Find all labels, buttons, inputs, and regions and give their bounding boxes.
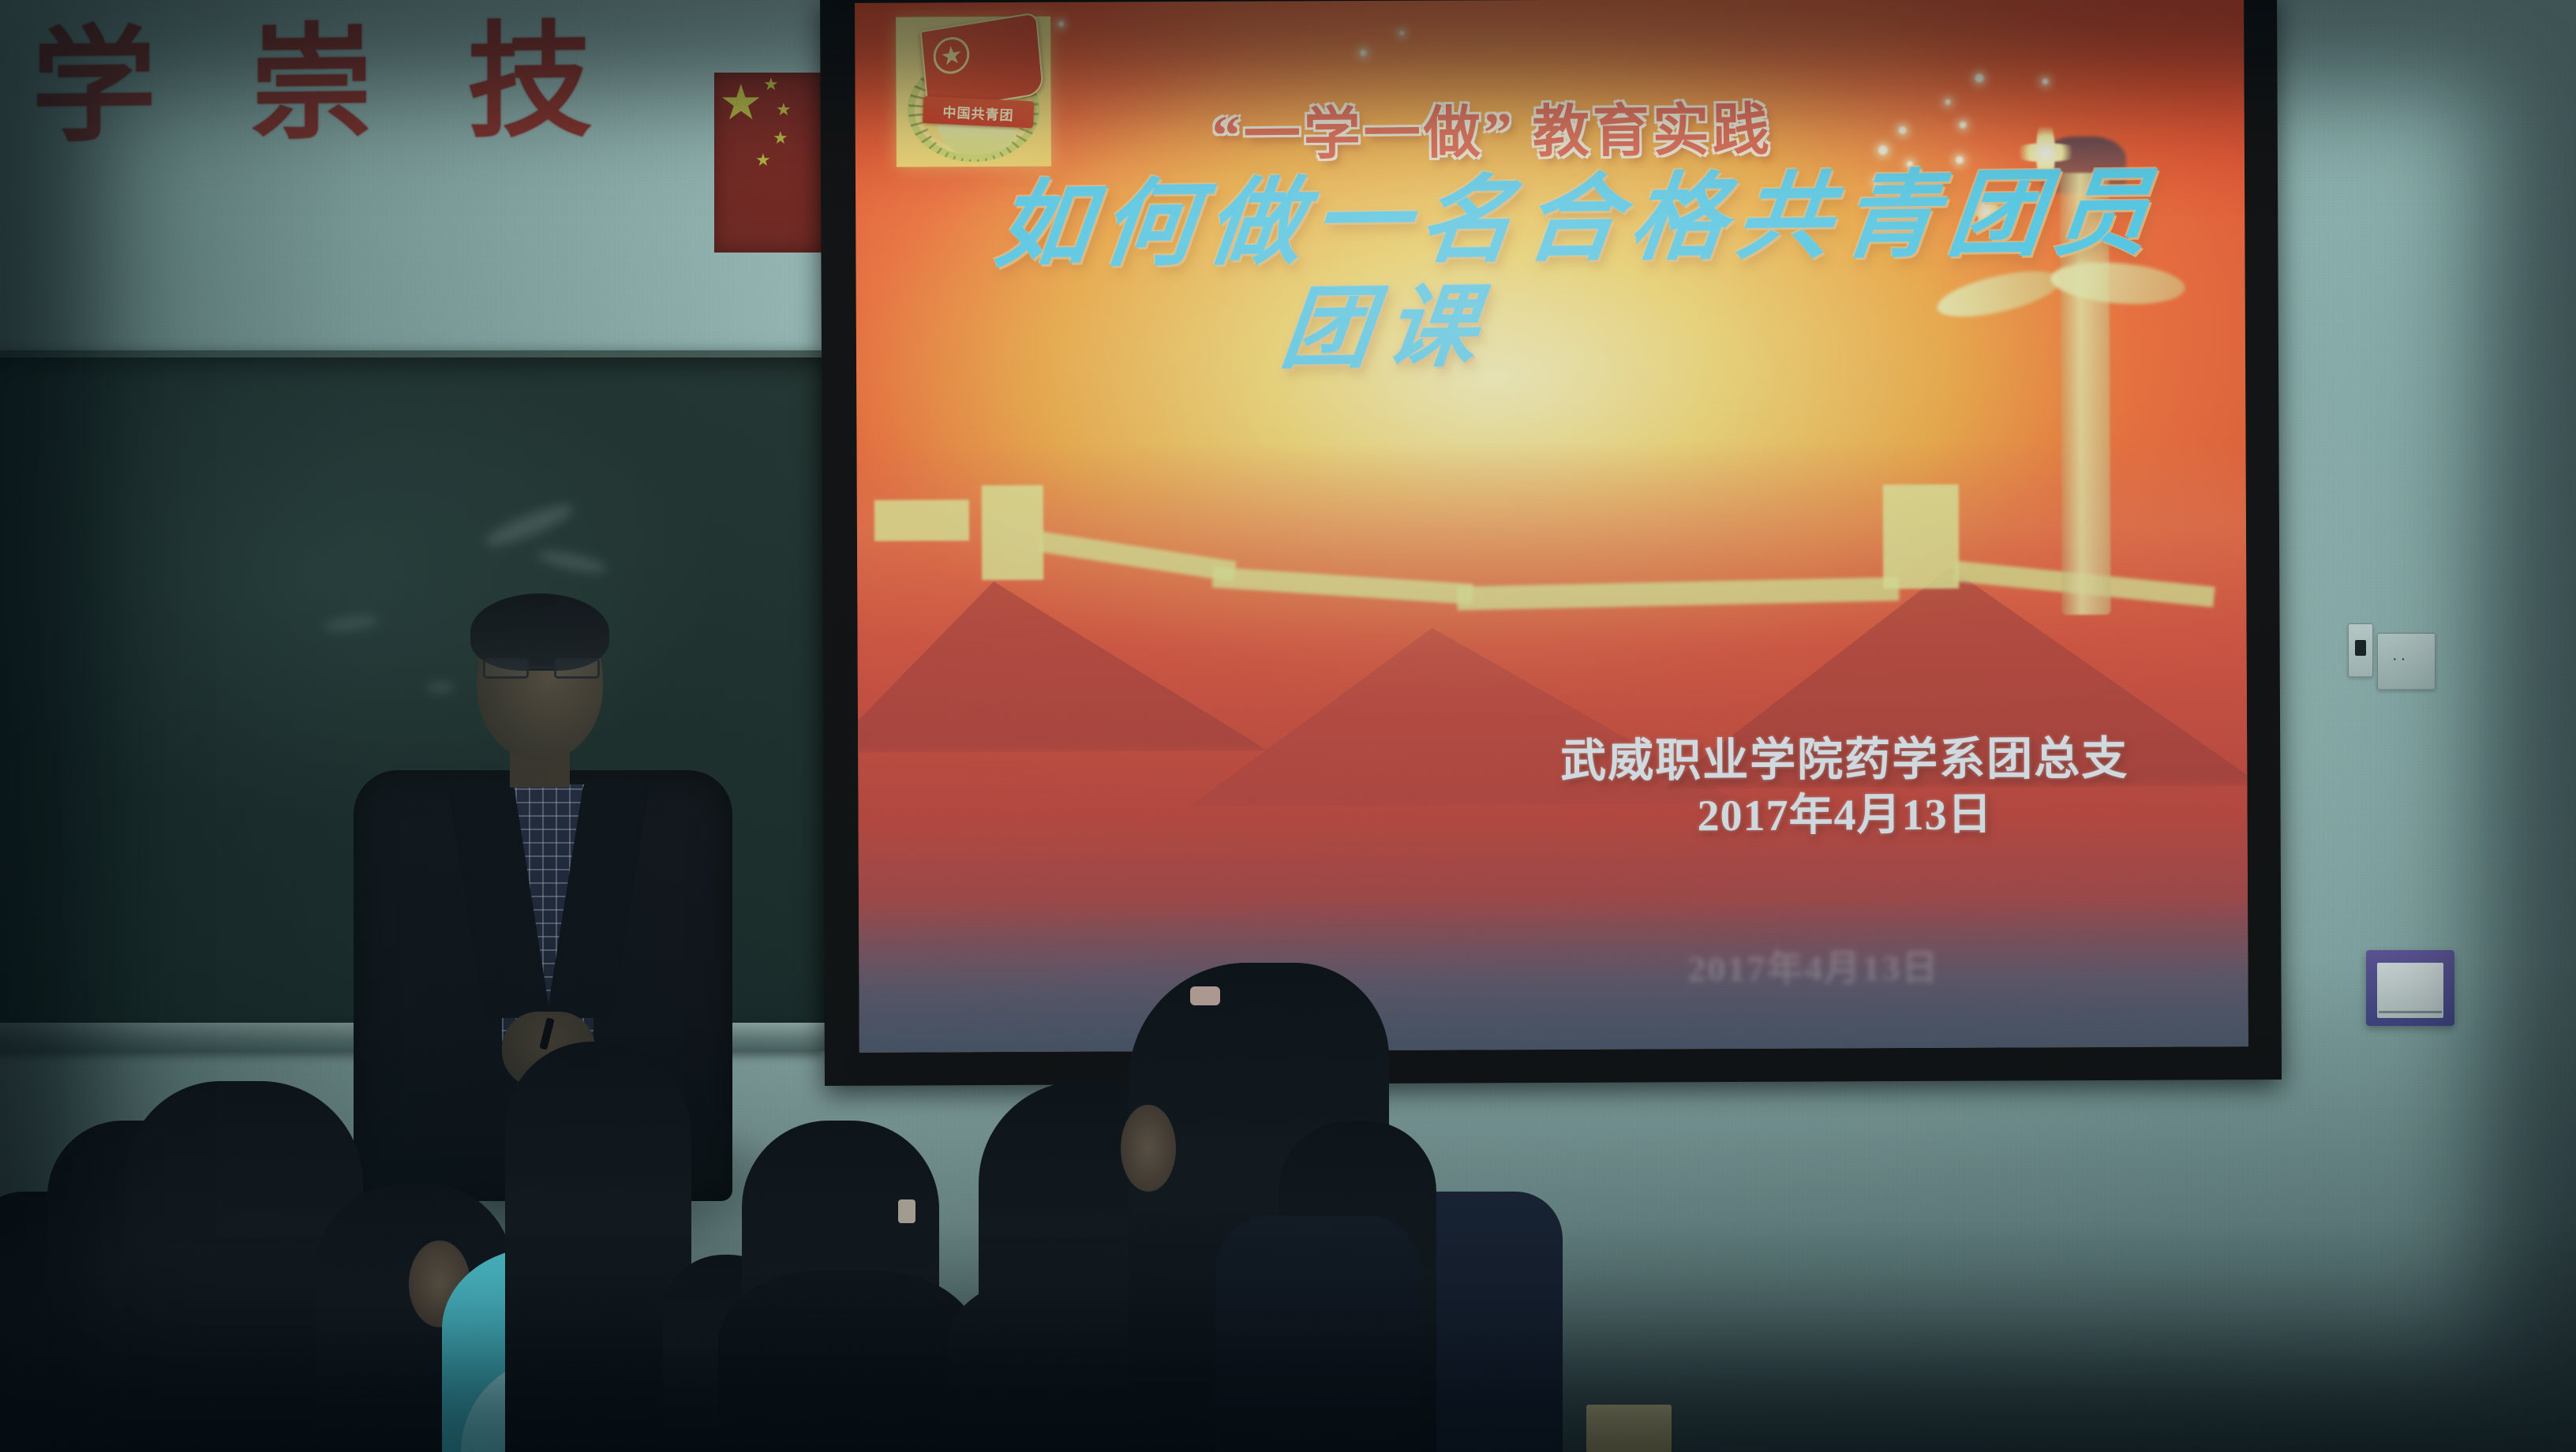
slide-title: 如何做一名合格共青团员 团课 <box>889 161 2248 382</box>
eyeglasses-icon <box>483 658 600 679</box>
wall-calligraphy-char-1: 学 <box>32 25 156 152</box>
presenter-speaker <box>347 601 742 1201</box>
sparkle-dot <box>1058 21 1064 27</box>
projection-screen-frame: ★ 中国共青团 “一学一做” 教育实践 如何做一名合格共青团员 团课 武威职业学… <box>820 0 2282 1086</box>
sparkle-dot <box>1878 145 1888 155</box>
wall-box-face <box>2377 963 2443 1018</box>
sparkle-dot <box>2042 78 2048 84</box>
great-wall-segment <box>1457 577 1900 610</box>
wall-calligraphy-char-2: 崇 <box>249 23 374 149</box>
slide-footer-organization: 武威职业学院药学系团总支 <box>1560 732 2129 790</box>
slide-header-text: “一学一做” 教育实践 <box>1211 83 1773 171</box>
sparkle-dot <box>1960 122 1967 129</box>
classroom-scene: 学 崇 技 ★ ★ ★ ★ ★ <box>0 0 2576 1452</box>
eyeglasses-lens-left <box>483 658 529 679</box>
great-wall-segment <box>1212 567 1473 604</box>
slide-footer: 武威职业学院药学系团总支 2017年4月13日 <box>1560 732 2129 844</box>
great-wall-tower <box>982 485 1044 580</box>
slide-title-line2: 团课 <box>855 271 2063 384</box>
outlet-holes: ·· <box>2392 651 2409 667</box>
wall-box-slot <box>2379 1011 2442 1013</box>
slide-title-line1: 如何做一名合格共青团员 <box>990 160 2166 279</box>
flag-star-small-4: ★ <box>755 152 771 169</box>
sparkle-dot <box>1975 74 1983 83</box>
flag-star-small-1: ★ <box>763 76 779 93</box>
communist-youth-league-emblem: ★ 中国共青团 <box>896 17 1051 167</box>
eyeglasses-lens-right <box>554 658 600 679</box>
flag-star-large: ★ <box>719 79 763 128</box>
sparkle-dot <box>1360 50 1366 56</box>
sparkle-dot <box>1899 126 1907 134</box>
eyeglasses-bridge <box>529 666 554 668</box>
slide-bottom-haze <box>859 896 2248 1053</box>
chalk-smudge <box>481 498 576 552</box>
slide-ghost-date: 2017年4月13日 <box>1687 939 1939 992</box>
great-wall-segment <box>1039 531 1237 582</box>
flag-star-small-2: ★ <box>776 101 792 118</box>
purple-wall-box[interactable] <box>2366 950 2454 1026</box>
sparkle-dot <box>1399 31 1404 36</box>
projected-slide: ★ 中国共青团 “一学一做” 教育实践 如何做一名合格共青团员 团课 武威职业学… <box>855 0 2248 1053</box>
mountain-shape <box>855 570 1268 753</box>
wall-outlet-plate[interactable]: ·· <box>2377 633 2436 690</box>
chalk-smudge <box>536 548 608 576</box>
great-wall-tower <box>874 500 969 541</box>
flag-star-small-3: ★ <box>773 129 788 147</box>
light-switch-plate[interactable] <box>2348 623 2373 677</box>
presenter-belt <box>518 1110 590 1138</box>
chinese-national-flag: ★ ★ ★ ★ ★ <box>714 73 825 253</box>
light-switch-toggle[interactable] <box>2355 640 2366 656</box>
emblem-banner-text: 中国共青团 <box>923 96 1034 129</box>
great-wall-tower <box>1883 485 1960 589</box>
wall-calligraphy: 学 崇 技 <box>32 21 592 151</box>
sparkle-dot <box>1945 99 1951 105</box>
slide-footer-date: 2017年4月13日 <box>1560 788 2129 844</box>
wall-calligraphy-char-3: 技 <box>467 21 592 147</box>
emblem-star-icon: ★ <box>932 35 972 77</box>
